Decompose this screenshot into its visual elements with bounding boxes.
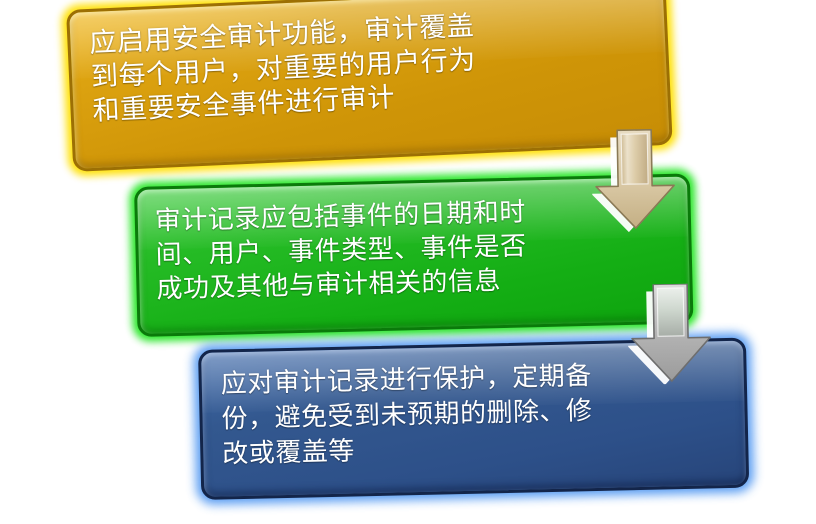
down-arrow-green-to-blue — [627, 283, 719, 385]
down-arrow-orange-to-green — [591, 127, 683, 233]
slide-canvas: 应启用安全审计功能，审计覆盖 到每个用户，对重要的用户行为 和重要安全事件进行审… — [0, 0, 816, 524]
process-step-box-1[interactable]: 应启用安全审计功能，审计覆盖 到每个用户，对重要的用户行为 和重要安全事件进行审… — [66, 0, 673, 172]
